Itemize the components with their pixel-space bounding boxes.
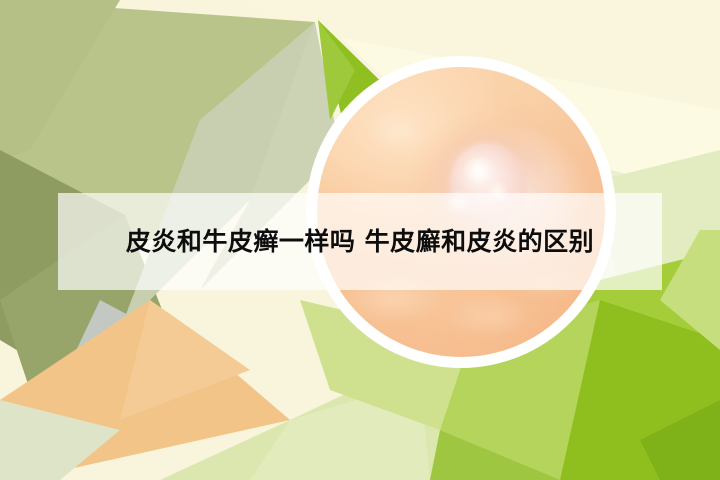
page-title: 皮炎和牛皮癣一样吗 牛皮廯和皮炎的区别 [126, 226, 594, 257]
title-banner: 皮炎和牛皮癣一样吗 牛皮廯和皮炎的区别 [58, 193, 662, 290]
article-header-image: 皮炎和牛皮癣一样吗 牛皮廯和皮炎的区别 [0, 0, 720, 480]
